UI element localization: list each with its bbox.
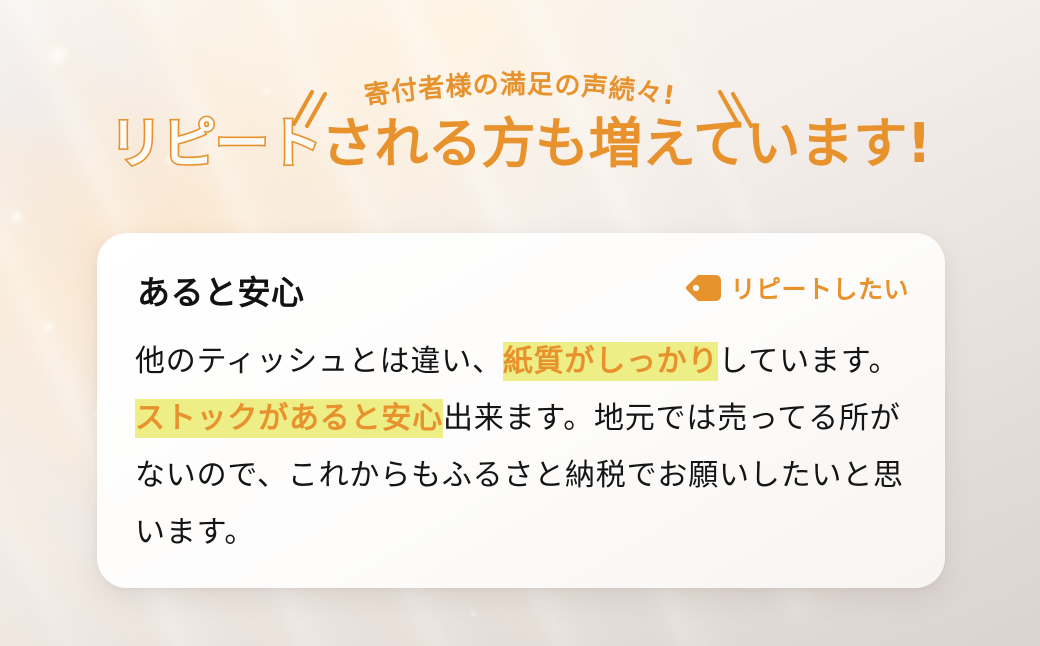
review-body: 他のティッシュとは違い、紙質がしっかりしています。ストックがあると安心出来ます。… [135, 333, 913, 561]
headline-outlined-part: リピート [109, 112, 321, 175]
tag-icon [685, 275, 721, 301]
review-segment: 他のティッシュとは違い、 [135, 344, 503, 379]
review-segment: しています。 [718, 344, 899, 379]
review-card: あると安心 リピートしたい 他のティッシュとは違い、紙質がしっかりしています。ス… [97, 233, 945, 588]
main-headline: リピートされる方も増えています! [0, 116, 1040, 173]
repeat-tag: リピートしたい [685, 270, 909, 306]
review-segment-highlighted: ストックがあると安心 [135, 399, 443, 438]
promo-banner: 寄付者様の満足の声続々! リピートされる方も増えています! あると安心 [0, 0, 1040, 646]
review-card-header: あると安心 リピートしたい [137, 266, 909, 312]
headline-solid-part: される方も増えています! [321, 112, 931, 175]
eyebrow-label: 寄付者様の満足の声続々! [362, 70, 677, 112]
repeat-tag-label: リピートしたい [730, 270, 909, 306]
review-title: あると安心 [137, 266, 305, 314]
review-segment-highlighted: 紙質がしっかり [503, 342, 719, 381]
eyebrow-text: 寄付者様の満足の声続々! [362, 70, 677, 112]
